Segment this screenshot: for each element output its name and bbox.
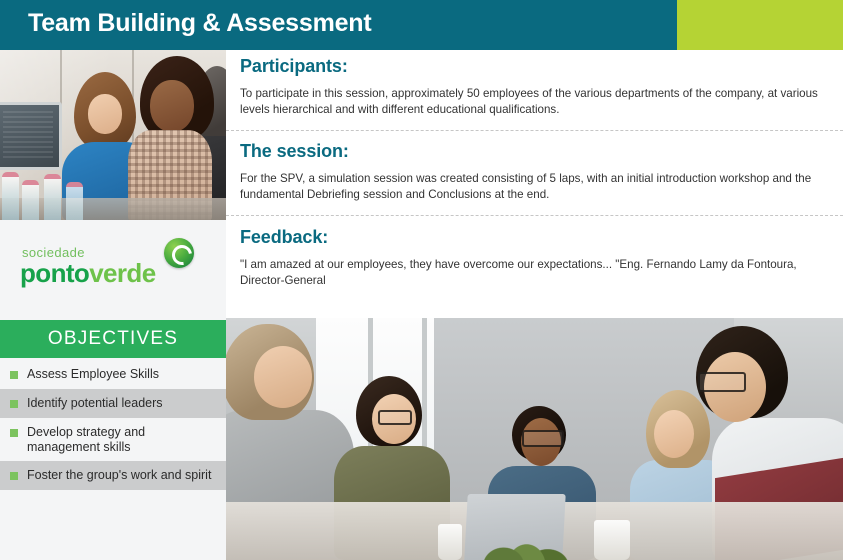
brand-logo: sociedade pontoverde [0,220,226,320]
photo-cup [594,520,630,560]
header-bar: Team Building & Assessment [0,0,843,50]
photo-person-face [254,346,312,408]
photo-monitor [0,102,62,170]
section-participants: Participants: To participate in this ses… [226,56,843,117]
section-title: Participants: [226,56,843,77]
slide-root: Team Building & Assessment so [0,0,843,560]
list-item[interactable]: Develop strategy and management skills [0,418,226,461]
photo-bottle [44,174,61,220]
content-area: Participants: To participate in this ses… [226,50,843,560]
photo-cup [438,524,462,560]
section-body: "I am amazed at our employees, they have… [226,257,843,288]
content-bottom-photo [226,318,843,560]
photo-person-center-face [150,80,194,132]
list-item[interactable]: Foster the group's work and spirit [0,461,226,490]
sidebar: sociedade pontoverde OBJECTIVES Assess E… [0,50,226,560]
list-item[interactable]: Assess Employee Skills [0,360,226,389]
photo-glasses [378,410,412,425]
section-divider [226,130,843,132]
section-body: For the SPV, a simulation session was cr… [226,171,843,202]
photo-glasses [698,372,746,392]
photo-glasses [522,430,564,447]
section-title: Feedback: [226,227,843,248]
section-divider [226,215,843,217]
bullet-square-icon [10,371,18,379]
photo-bottle [22,180,39,220]
section-body: To participate in this session, approxim… [226,86,843,117]
recycling-arrow-icon [164,238,194,268]
sidebar-top-photo [0,50,226,220]
objective-label: Foster the group's work and spirit [27,468,216,483]
list-item[interactable]: Identify potential leaders [0,389,226,418]
photo-plant [476,508,568,560]
bullet-square-icon [10,429,18,437]
photo-person-face [654,410,694,458]
photo-bottle [66,182,83,220]
objective-label: Assess Employee Skills [27,367,216,382]
photo-person-left-face [88,94,122,134]
objective-label: Develop strategy and management skills [27,425,216,454]
objectives-list: Assess Employee Skills Identify potentia… [0,360,226,490]
objective-label: Identify potential leaders [27,396,216,411]
section-the-session: The session: For the SPV, a simulation s… [226,141,843,202]
page-title: Team Building & Assessment [28,9,372,38]
photo-bottle [2,172,19,220]
bullet-square-icon [10,400,18,408]
objectives-header: OBJECTIVES [0,320,226,358]
logo-word-ponto: ponto [20,258,89,288]
bullet-square-icon [10,472,18,480]
section-feedback: Feedback: "I am amazed at our employees,… [226,227,843,288]
logo-word-verde: verde [89,258,155,288]
section-title: The session: [226,141,843,162]
